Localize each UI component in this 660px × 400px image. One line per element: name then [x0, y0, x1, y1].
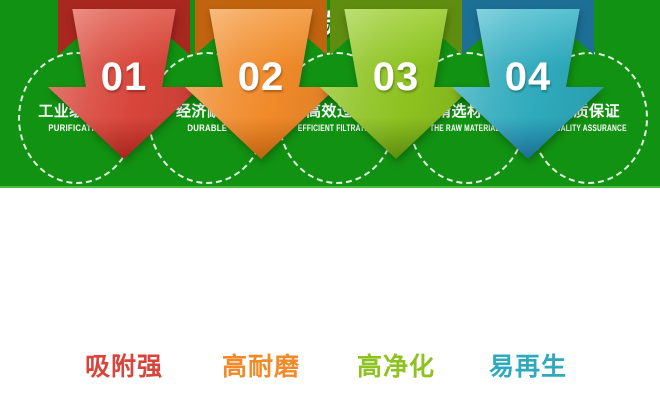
arrow-body: 01 — [48, 9, 200, 159]
step-arrow-04: 04 — [452, 0, 604, 160]
infographic-poster: 果壳活性炭性能优势 工业级净化 PURIFICATION 经济耐用 DURABL… — [0, 0, 660, 400]
arrow-body: 04 — [452, 9, 604, 159]
step-number: 02 — [185, 55, 337, 99]
arrow-body: 02 — [185, 9, 337, 159]
step-number: 04 — [452, 55, 604, 99]
step-arrow-02: 02 — [185, 0, 337, 160]
arrow-body: 03 — [320, 9, 472, 159]
step-caption-04: 易再生 — [452, 352, 604, 382]
step-caption-02: 高耐磨 — [185, 352, 337, 382]
step-caption-03: 高净化 — [320, 352, 472, 382]
step-arrow-01: 01 — [48, 0, 200, 160]
step-number: 03 — [320, 55, 472, 99]
step-number: 01 — [48, 55, 200, 99]
step-arrow-03: 03 — [320, 0, 472, 160]
step-caption-01: 吸附强 — [48, 352, 200, 382]
